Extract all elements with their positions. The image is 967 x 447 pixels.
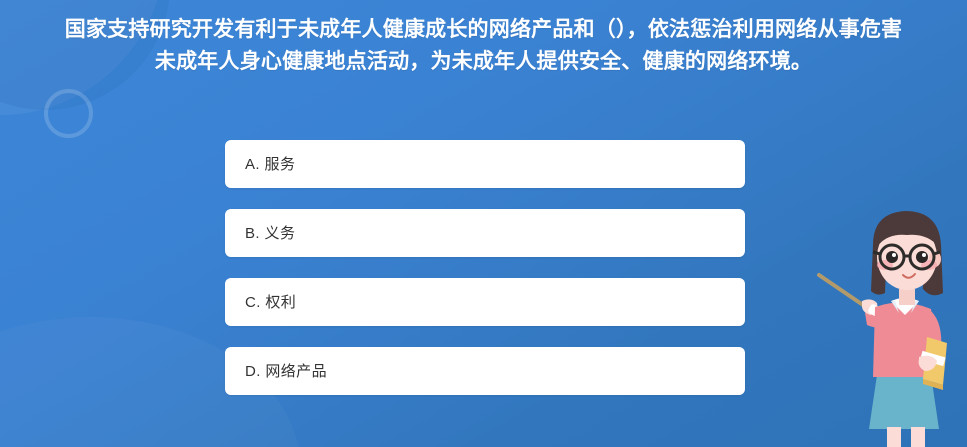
right-leg <box>911 427 925 447</box>
left-leg <box>887 427 901 447</box>
option-b-label: B. 义务 <box>245 226 295 241</box>
quiz-screen: 国家支持研究开发有利于未成年人健康成长的网络产品和（），依法惩治利用网络从事危害… <box>0 0 967 447</box>
question-line-2: 未成年人身心健康地点活动，为未成年人提供安全、健康的网络环境。 <box>6 46 961 78</box>
neck <box>899 289 915 305</box>
options-list: A. 服务 B. 义务 C. 权利 D. 网络产品 <box>225 140 745 395</box>
option-d[interactable]: D. 网络产品 <box>225 347 745 395</box>
circle-outline-decor <box>44 89 93 138</box>
teacher-character-illustration <box>807 197 967 447</box>
option-d-label: D. 网络产品 <box>245 364 327 379</box>
right-eye-highlight <box>922 253 926 257</box>
option-a-label: A. 服务 <box>245 157 295 172</box>
left-eye-highlight <box>892 253 896 257</box>
option-c-label: C. 权利 <box>245 295 296 310</box>
left-eye <box>886 251 898 263</box>
right-eye <box>916 251 928 263</box>
option-a[interactable]: A. 服务 <box>225 140 745 188</box>
option-c[interactable]: C. 权利 <box>225 278 745 326</box>
question-text: 国家支持研究开发有利于未成年人健康成长的网络产品和（），依法惩治利用网络从事危害… <box>0 14 967 78</box>
pointer-stick-icon <box>819 275 863 305</box>
question-line-1: 国家支持研究开发有利于未成年人健康成长的网络产品和（），依法惩治利用网络从事危害 <box>6 14 961 46</box>
option-b[interactable]: B. 义务 <box>225 209 745 257</box>
